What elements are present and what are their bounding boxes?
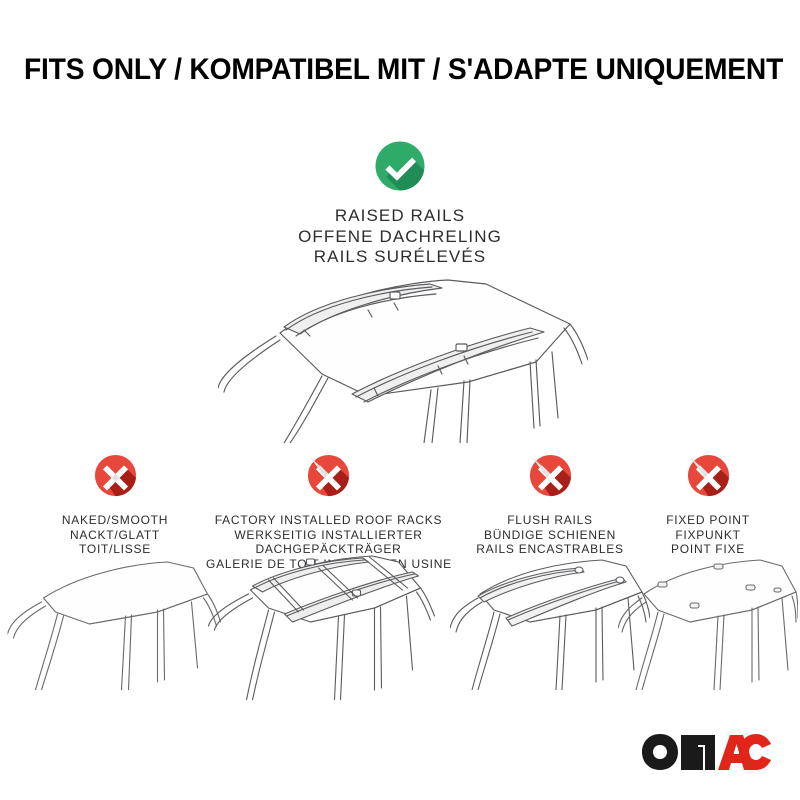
- flush-rails-icon-wrap: [452, 452, 648, 504]
- red-x-circle-icon: [685, 452, 732, 499]
- car-roof-with-raised-rails-illustration: [218, 278, 588, 443]
- flush-rails-label-en: FLUSH RAILS: [452, 513, 648, 528]
- car-roof-with-factory-crossbars-illustration: [206, 550, 451, 700]
- item-factory-installed-roof-racks: FACTORY INSTALLED ROOF RACKS WERKSEITIG …: [206, 452, 451, 571]
- incompatible-section: NAKED/SMOOTH NACKT/GLATT TOIT/LISSE: [0, 452, 800, 752]
- compatible-labels: RAISED RAILS OFFENE DACHRELING RAILS SUR…: [0, 206, 800, 268]
- factory-racks-label-en: FACTORY INSTALLED ROOF RACKS: [206, 513, 451, 528]
- fixed-point-icon-wrap: [640, 452, 776, 504]
- compatible-label-fr: RAILS SURÉLEVÉS: [0, 247, 800, 268]
- factory-racks-label-de-1: WERKSEITIG INSTALLIERTER: [206, 528, 451, 543]
- compatible-section: RAISED RAILS OFFENE DACHRELING RAILS SUR…: [0, 138, 800, 268]
- red-x-circle-icon: [527, 452, 574, 499]
- fixed-point-label-en: FIXED POINT: [640, 513, 776, 528]
- compatible-label-en: RAISED RAILS: [0, 206, 800, 227]
- red-x-circle-icon: [305, 452, 352, 499]
- naked-smooth-label-en: NAKED/SMOOTH: [15, 513, 215, 528]
- red-x-circle-icon: [92, 452, 139, 499]
- naked-smooth-label-de: NACKT/GLATT: [15, 528, 215, 543]
- omac-logo-mark: [642, 732, 772, 772]
- omac-logo: [642, 732, 772, 772]
- item-flush-rails: FLUSH RAILS BÜNDIGE SCHIENEN RAILS ENCAS…: [452, 452, 648, 557]
- car-roof-with-fixed-points-illustration: [618, 550, 798, 690]
- page-title: FITS ONLY / KOMPATIBEL MIT / S'ADAPTE UN…: [24, 53, 776, 87]
- compatible-label-de: OFFENE DACHRELING: [0, 227, 800, 248]
- fixed-point-label-de: FIXPUNKT: [640, 528, 776, 543]
- naked-smooth-icon-wrap: [15, 452, 215, 504]
- item-fixed-point: FIXED POINT FIXPUNKT POINT FIXE: [640, 452, 776, 557]
- flush-rails-label-de: BÜNDIGE SCHIENEN: [452, 528, 648, 543]
- factory-racks-icon-wrap: [206, 452, 451, 504]
- car-roof-naked-smooth-illustration: [8, 550, 223, 690]
- item-naked-smooth: NAKED/SMOOTH NACKT/GLATT TOIT/LISSE: [15, 452, 215, 557]
- fitment-compatibility-infographic: FITS ONLY / KOMPATIBEL MIT / S'ADAPTE UN…: [0, 0, 800, 800]
- green-check-circle-icon: [372, 138, 428, 194]
